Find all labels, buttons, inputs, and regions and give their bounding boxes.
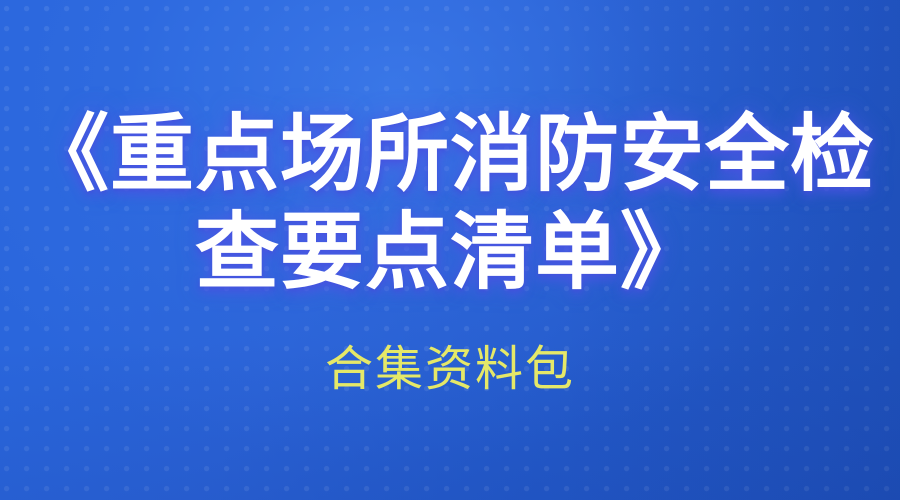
banner-title-line-2: 查要点清单》	[195, 210, 705, 294]
promo-banner: 《重点场所消防安全检 查要点清单》 合集资料包	[0, 0, 900, 500]
banner-title-line-1: 《重点场所消防安全检	[25, 112, 875, 196]
banner-content: 《重点场所消防安全检 查要点清单》 合集资料包	[0, 0, 900, 500]
banner-subtitle: 合集资料包	[325, 346, 575, 394]
